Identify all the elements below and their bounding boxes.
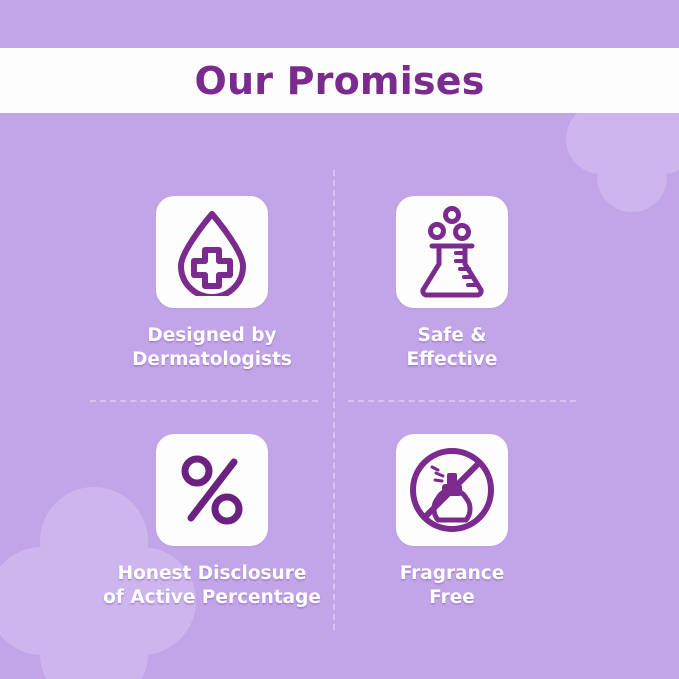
promises-infographic: Our Promises Designed by Dermatologists xyxy=(0,0,679,679)
promises-grid: Designed by Dermatologists xyxy=(0,160,679,660)
icon-card xyxy=(396,434,508,546)
icon-card xyxy=(396,196,508,308)
icon-card xyxy=(156,434,268,546)
promise-item-fragrance-free: Fragrance Free xyxy=(302,434,602,611)
promise-label: Honest Disclosure of Active Percentage xyxy=(103,562,321,611)
header-banner: Our Promises xyxy=(0,48,679,113)
flask-bubbles-icon xyxy=(412,206,492,298)
promise-item-safe-and-effective: Safe & Effective xyxy=(302,196,602,373)
percent-icon xyxy=(179,452,245,528)
promise-label: Designed by Dermatologists xyxy=(132,324,292,373)
page-title: Our Promises xyxy=(194,62,484,100)
promise-label: Safe & Effective xyxy=(407,324,498,373)
promise-label: Fragrance Free xyxy=(400,562,505,611)
droplet-plus-icon xyxy=(171,208,253,296)
icon-card xyxy=(156,196,268,308)
no-fragrance-icon xyxy=(408,446,496,534)
